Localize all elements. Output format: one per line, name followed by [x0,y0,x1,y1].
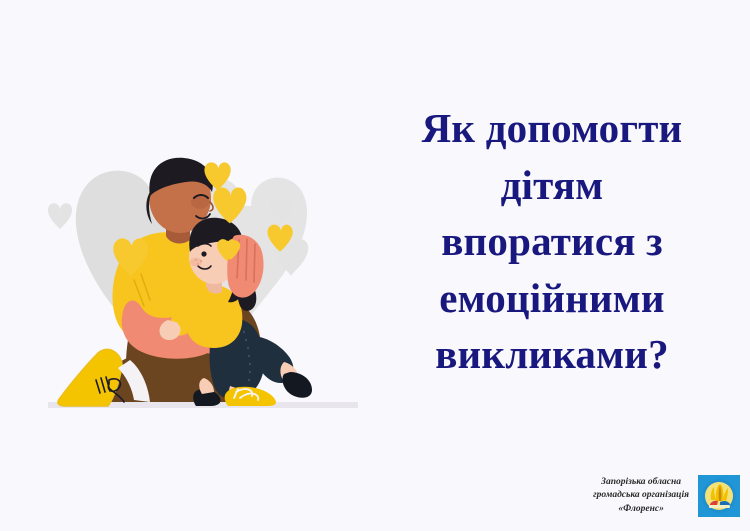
organization-footer: Запорізька обласна громадська організаці… [540,470,740,522]
headline-line-3: впоратися з [382,213,722,270]
organization-line-3: «Флоренс» [593,503,689,516]
headline-line-1: Як допомогти [382,100,722,157]
girl-eye [201,251,206,256]
poster-canvas: Як допомогти дітям впоратися з емоційним… [0,0,750,531]
organization-name: Запорізька обласна громадська організаці… [593,476,689,516]
headline-line-4: емоційними [382,270,722,327]
logo-base-bar [709,505,730,508]
headline-line-2: дітям [382,157,722,214]
page-title: Як допомогти дітям впоратися з емоційним… [382,100,722,383]
florens-organization-logo [698,475,740,517]
headline-line-5: викликами? [382,326,722,383]
organization-line-1: Запорізька обласна [593,476,689,489]
girl-shoe-black-right [282,372,312,398]
father-hugging-daughter-illustration [38,140,378,440]
organization-line-2: громадська організація [593,489,689,502]
girl-cheek [190,258,202,267]
